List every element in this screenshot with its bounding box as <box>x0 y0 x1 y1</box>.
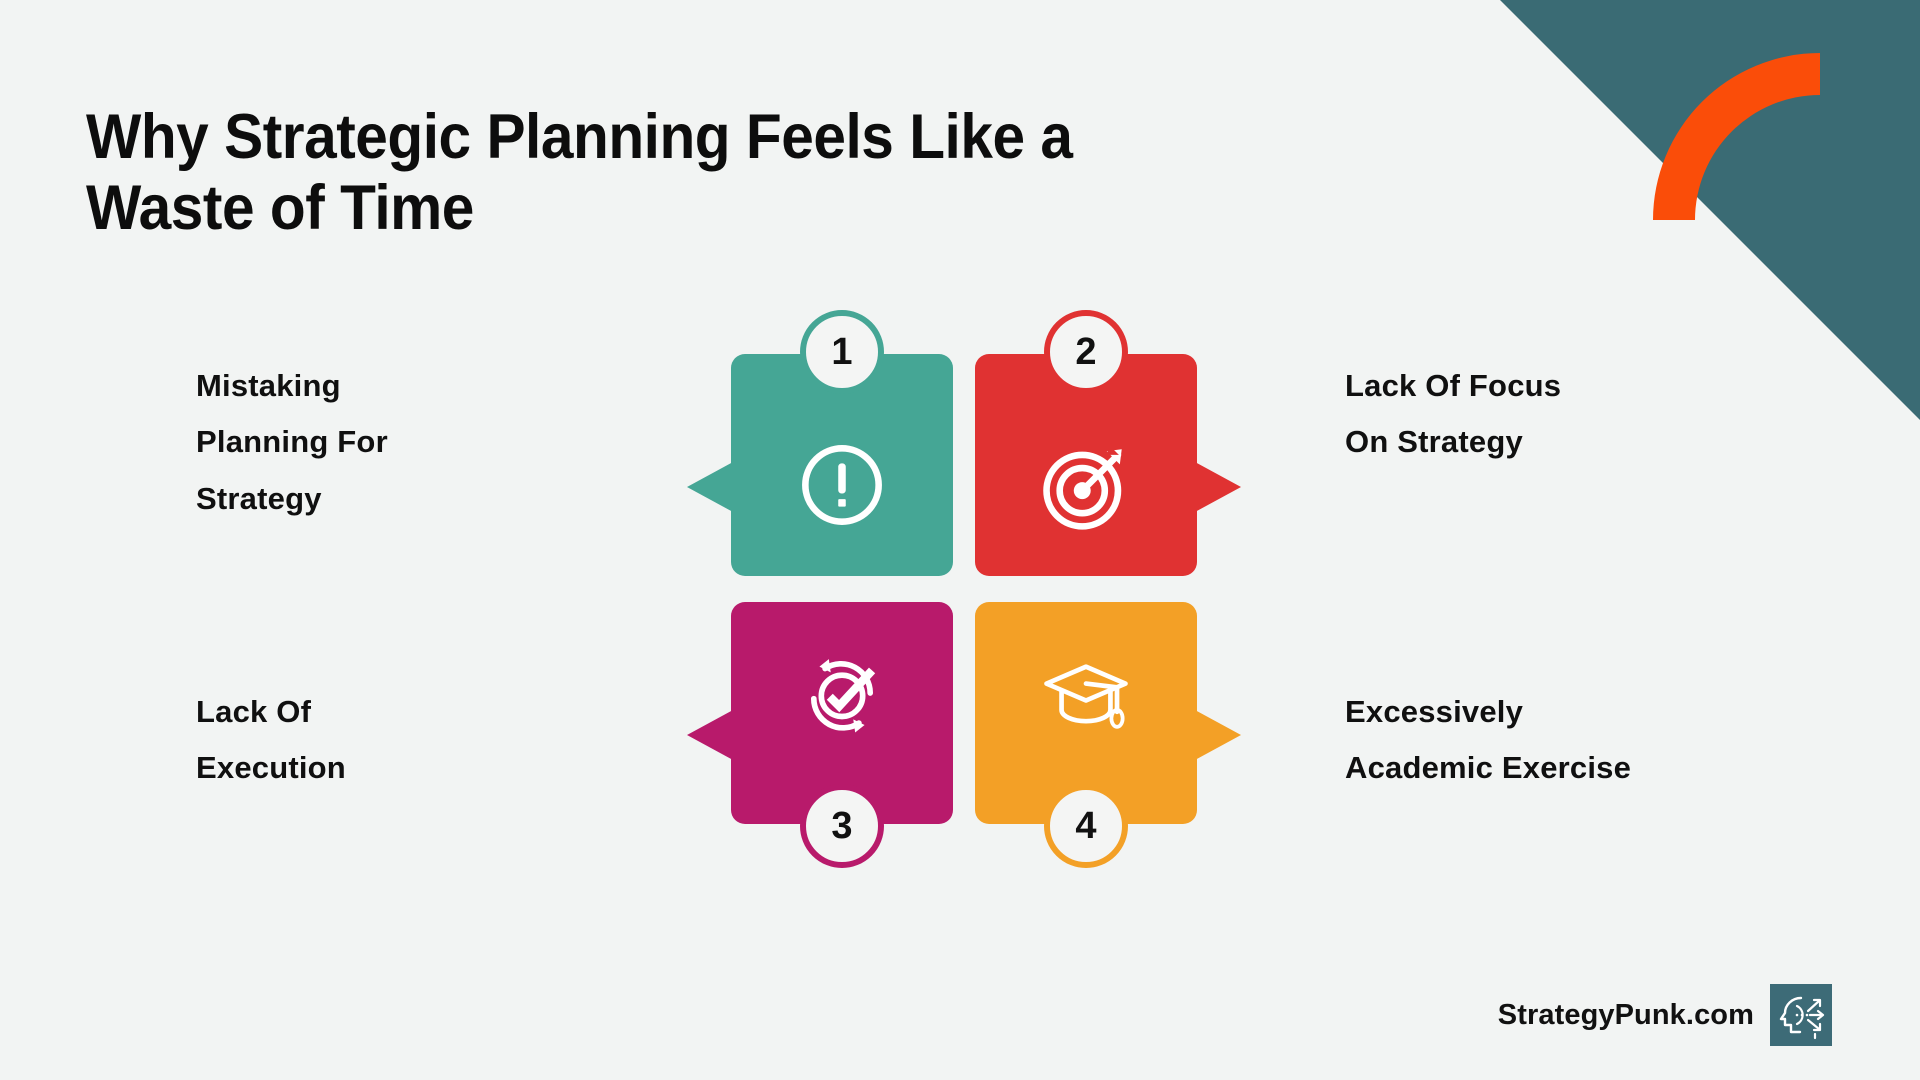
page-title: Why Strategic Planning Feels Like a Wast… <box>86 102 1397 243</box>
card-4-tail <box>1195 710 1241 760</box>
card-label-4: Excessively Academic Exercise <box>1345 684 1865 797</box>
brand-name: StrategyPunk.com <box>1498 999 1754 1032</box>
target-arrow-icon <box>1039 438 1133 532</box>
card-3-tail <box>687 710 733 760</box>
teal-corner-triangle <box>1500 0 1920 420</box>
head-arrows-logo-icon[interactable] <box>1770 984 1832 1046</box>
card-label-2: Lack Of Focus On Strategy <box>1345 358 1865 471</box>
card-2-tail <box>1195 462 1241 512</box>
card-2[interactable]: 2 <box>975 354 1197 576</box>
card-1[interactable]: 1 <box>731 354 953 576</box>
card-3[interactable]: 3 <box>731 602 953 824</box>
card-1-badge: 1 <box>800 310 884 394</box>
card-3-badge: 3 <box>800 784 884 868</box>
exclamation-circle-icon <box>795 438 889 532</box>
card-grid: 1 2 3 <box>731 302 1197 834</box>
card-label-1: Mistaking Planning For Strategy <box>196 358 636 527</box>
orange-quarter-arc <box>1653 53 1820 220</box>
card-label-3: Lack Of Execution <box>196 684 636 797</box>
refresh-check-icon <box>795 646 889 740</box>
corner-decoration <box>1500 0 1920 420</box>
corner-decoration-svg <box>1500 0 1920 420</box>
card-4[interactable]: 4 <box>975 602 1197 824</box>
card-1-tail <box>687 462 733 512</box>
footer: StrategyPunk.com <box>1498 984 1832 1046</box>
card-2-badge: 2 <box>1044 310 1128 394</box>
graduation-cap-icon <box>1039 646 1133 740</box>
card-4-badge: 4 <box>1044 784 1128 868</box>
